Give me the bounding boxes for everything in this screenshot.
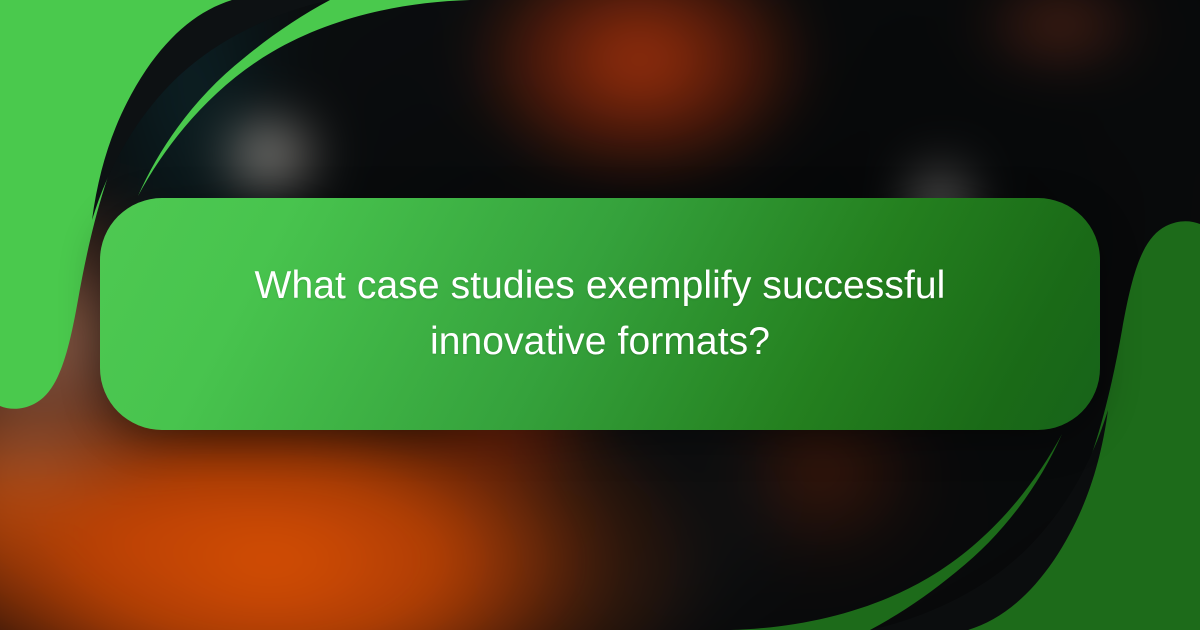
question-card: What case studies exemplify successful i…: [100, 198, 1100, 430]
social-card-canvas: What case studies exemplify successful i…: [0, 0, 1200, 630]
question-text: What case studies exemplify successful i…: [197, 258, 1003, 370]
